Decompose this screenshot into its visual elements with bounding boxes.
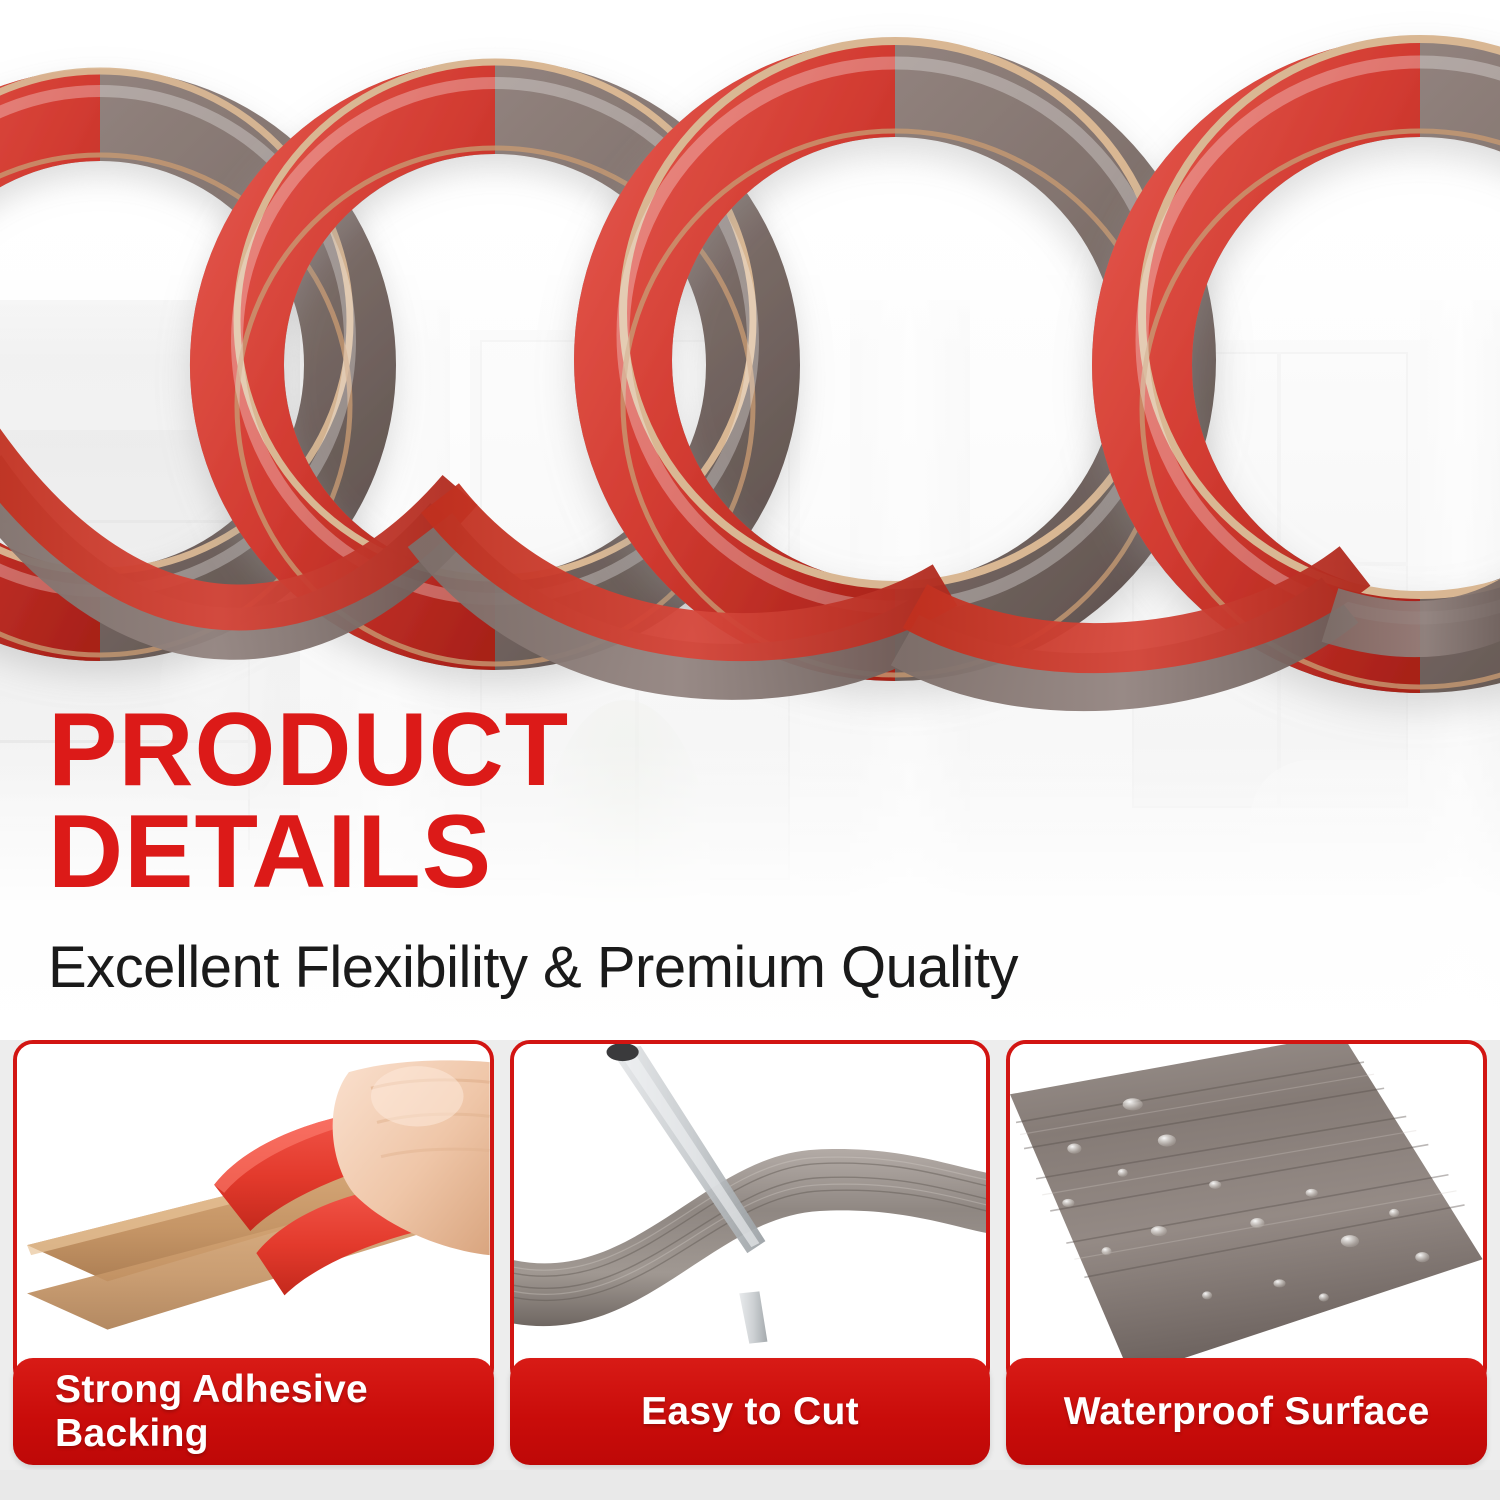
page-title: PRODUCT DETAILS (48, 700, 1248, 904)
feature-card-adhesive[interactable]: Strong Adhesive Backing (13, 1040, 494, 1465)
feature-image-frame (1006, 1040, 1487, 1388)
hero-section: PRODUCT DETAILS Excellent Flexibility & … (0, 0, 1500, 1040)
feature-panels: Strong Adhesive Backing (0, 1040, 1500, 1470)
product-detail-image: PRODUCT DETAILS Excellent Flexibility & … (0, 0, 1500, 1500)
bottom-strip (0, 1470, 1500, 1500)
page-subtitle: Excellent Flexibility & Premium Quality (48, 934, 1248, 1001)
easy-to-cut-photo (514, 1044, 987, 1386)
feature-image-frame (510, 1040, 991, 1388)
feature-card-waterproof[interactable]: Waterproof Surface (1006, 1040, 1487, 1465)
waterproof-surface-photo (1010, 1044, 1483, 1386)
feature-caption-waterproof: Waterproof Surface (1006, 1358, 1487, 1465)
feature-caption-cut: Easy to Cut (510, 1358, 991, 1465)
feature-card-cut[interactable]: Easy to Cut (510, 1040, 991, 1465)
feature-image-frame (13, 1040, 494, 1388)
adhesive-backing-photo (17, 1044, 490, 1386)
title-block: PRODUCT DETAILS Excellent Flexibility & … (48, 700, 1248, 1001)
feature-caption-adhesive: Strong Adhesive Backing (13, 1358, 494, 1465)
